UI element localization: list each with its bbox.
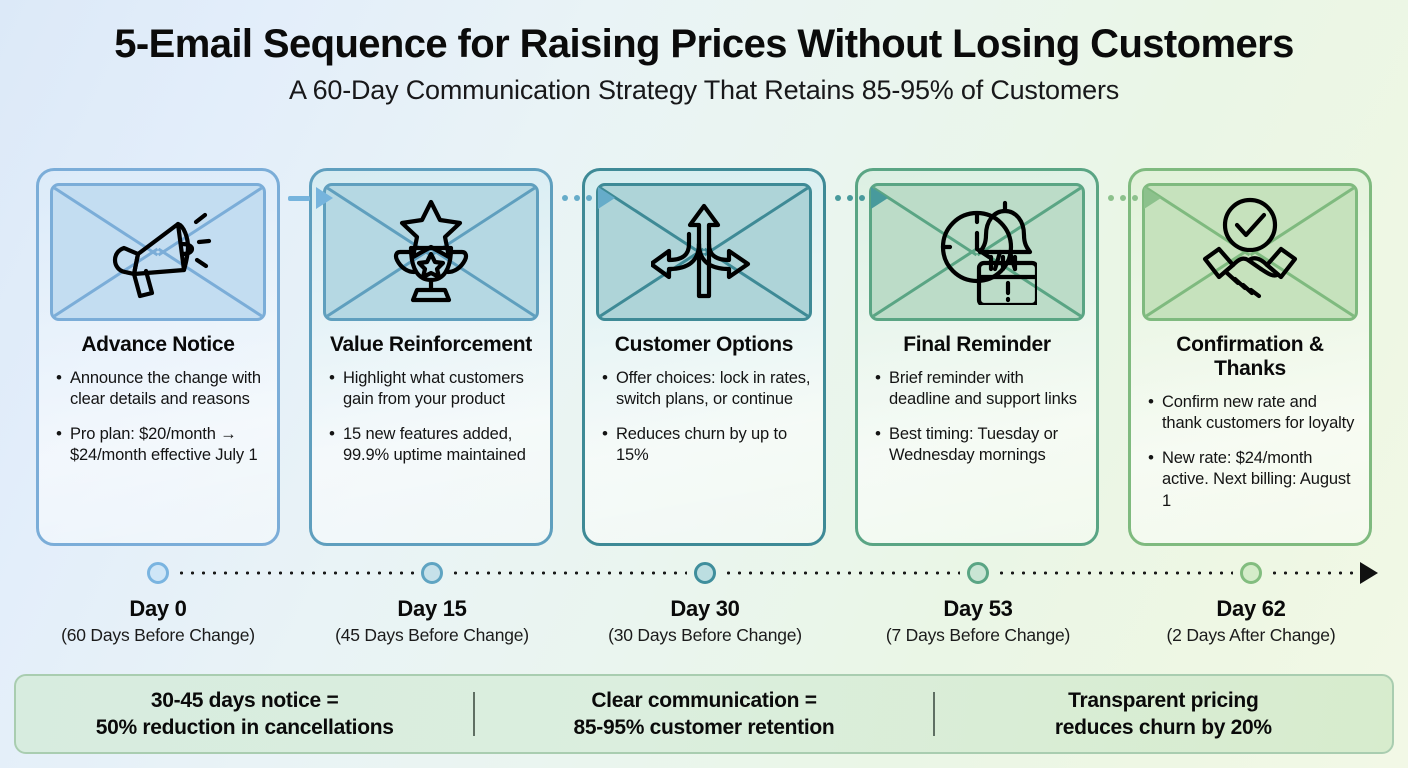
card-bullets-advance-notice: Announce the change with clear details a…	[51, 368, 265, 480]
bullet-item: Announce the change with clear details a…	[55, 368, 265, 411]
trophy-star-icon	[326, 186, 536, 318]
timeline-label-5: Day 62(2 Days After Change)	[1111, 596, 1391, 646]
bullet-item: 15 new features added, 99.9% uptime main…	[328, 424, 538, 467]
email-card-final-reminder[interactable]: Final ReminderBrief reminder with deadli…	[855, 168, 1099, 546]
card-title-value-reinforcement: Value Reinforcement	[330, 333, 532, 357]
bullet-item: Brief reminder with deadline and support…	[874, 368, 1084, 411]
email-card-customer-options[interactable]: Customer OptionsOffer choices: lock in r…	[582, 168, 826, 546]
connector-dot	[1132, 195, 1138, 201]
connector-arrowhead	[598, 187, 615, 209]
timeline-note: (2 Days After Change)	[1111, 625, 1391, 646]
bullet-item: Highlight what customers gain from your …	[328, 368, 538, 411]
bullet-item: Offer choices: lock in rates, switch pla…	[601, 368, 811, 411]
card-title-advance-notice: Advance Notice	[81, 333, 234, 357]
timeline-dotted-segment	[450, 570, 687, 576]
card-bullets-confirmation-thanks: Confirm new rate and thank customers for…	[1143, 392, 1357, 525]
connector-dot	[1108, 195, 1114, 201]
connector-stem	[288, 196, 310, 201]
card-bullets-value-reinforcement: Highlight what customers gain from your …	[324, 368, 538, 480]
timeline-node-3[interactable]	[694, 562, 716, 584]
connector-dot	[586, 195, 592, 201]
timeline-day: Day 30	[565, 596, 845, 622]
timeline-node-4[interactable]	[967, 562, 989, 584]
stat-line-2: reduces churn by 20%	[945, 714, 1382, 741]
flow-connector-4	[1108, 185, 1161, 211]
bullet-item: Confirm new rate and thank customers for…	[1147, 392, 1357, 435]
megaphone-icon	[53, 186, 263, 318]
timeline-note: (60 Days Before Change)	[18, 625, 298, 646]
timeline-day: Day 62	[1111, 596, 1391, 622]
stat-line-1: Clear communication =	[485, 687, 922, 714]
stats-bar: 30-45 days notice =50% reduction in canc…	[14, 674, 1394, 754]
timeline-node-1[interactable]	[147, 562, 169, 584]
handshake-check-icon	[1145, 186, 1355, 318]
stat-item-1: 30-45 days notice =50% reduction in canc…	[16, 687, 473, 742]
stat-item-2: Clear communication =85-95% customer ret…	[475, 687, 932, 742]
bullet-item: Reduces churn by up to 15%	[601, 424, 811, 467]
flow-connector-1	[288, 185, 333, 211]
envelope-shape-customer-options	[596, 183, 812, 321]
timeline-track	[36, 560, 1386, 588]
timeline-dotted-segment	[176, 570, 414, 576]
envelope-shape-advance-notice	[50, 183, 266, 321]
connector-arrowhead	[316, 187, 333, 209]
page-header: 5-Email Sequence for Raising Prices With…	[0, 0, 1408, 106]
three-way-arrow-icon	[599, 186, 809, 318]
card-title-customer-options: Customer Options	[615, 333, 793, 357]
timeline-end-arrow-icon	[1360, 562, 1378, 584]
page-title: 5-Email Sequence for Raising Prices With…	[0, 22, 1408, 67]
timeline-note: (45 Days Before Change)	[292, 625, 572, 646]
timeline: Day 0(60 Days Before Change)Day 15(45 Da…	[36, 560, 1386, 656]
timeline-day: Day 15	[292, 596, 572, 622]
envelope-shape-value-reinforcement	[323, 183, 539, 321]
clock-bell-calendar-icon	[872, 186, 1082, 318]
bullet-item: New rate: $24/month active. Next billing…	[1147, 448, 1357, 512]
bullet-item: Best timing: Tuesday or Wednesday mornin…	[874, 424, 1084, 467]
envelope-shape-confirmation-thanks	[1142, 183, 1358, 321]
connector-dot	[859, 195, 865, 201]
connector-dot	[847, 195, 853, 201]
timeline-label-2: Day 15(45 Days Before Change)	[292, 596, 572, 646]
email-card-confirmation-thanks[interactable]: Confirmation & ThanksConfirm new rate an…	[1128, 168, 1372, 546]
connector-arrowhead	[871, 187, 888, 209]
timeline-note: (7 Days Before Change)	[838, 625, 1118, 646]
card-title-final-reminder: Final Reminder	[903, 333, 1051, 357]
email-card-value-reinforcement[interactable]: Value ReinforcementHighlight what custom…	[309, 168, 553, 546]
connector-dot	[574, 195, 580, 201]
stat-line-2: 50% reduction in cancellations	[26, 714, 463, 741]
connector-dot	[562, 195, 568, 201]
stat-item-3: Transparent pricingreduces churn by 20%	[935, 687, 1392, 742]
stat-line-2: 85-95% customer retention	[485, 714, 922, 741]
connector-dot	[1120, 195, 1126, 201]
timeline-dotted-segment	[996, 570, 1233, 576]
timeline-node-2[interactable]	[421, 562, 443, 584]
flow-connector-2	[562, 185, 615, 211]
timeline-note: (30 Days Before Change)	[565, 625, 845, 646]
envelope-shape-final-reminder	[869, 183, 1085, 321]
timeline-day: Day 0	[18, 596, 298, 622]
flow-connector-3	[835, 185, 888, 211]
timeline-dotted-segment	[1269, 570, 1356, 576]
stat-line-1: 30-45 days notice =	[26, 687, 463, 714]
timeline-label-1: Day 0(60 Days Before Change)	[18, 596, 298, 646]
timeline-label-3: Day 30(30 Days Before Change)	[565, 596, 845, 646]
connector-dot	[835, 195, 841, 201]
email-sequence-cards: Advance NoticeAnnounce the change with c…	[36, 168, 1372, 546]
timeline-day: Day 53	[838, 596, 1118, 622]
bullet-item: Pro plan: $20/month → $24/month effectiv…	[55, 424, 265, 467]
timeline-node-5[interactable]	[1240, 562, 1262, 584]
stat-line-1: Transparent pricing	[945, 687, 1382, 714]
connector-arrowhead	[1144, 187, 1161, 209]
page-subtitle: A 60-Day Communication Strategy That Ret…	[0, 75, 1408, 106]
card-title-confirmation-thanks: Confirmation & Thanks	[1143, 333, 1357, 381]
timeline-label-4: Day 53(7 Days Before Change)	[838, 596, 1118, 646]
card-bullets-customer-options: Offer choices: lock in rates, switch pla…	[597, 368, 811, 480]
email-card-advance-notice[interactable]: Advance NoticeAnnounce the change with c…	[36, 168, 280, 546]
timeline-dotted-segment	[723, 570, 960, 576]
card-bullets-final-reminder: Brief reminder with deadline and support…	[870, 368, 1084, 480]
